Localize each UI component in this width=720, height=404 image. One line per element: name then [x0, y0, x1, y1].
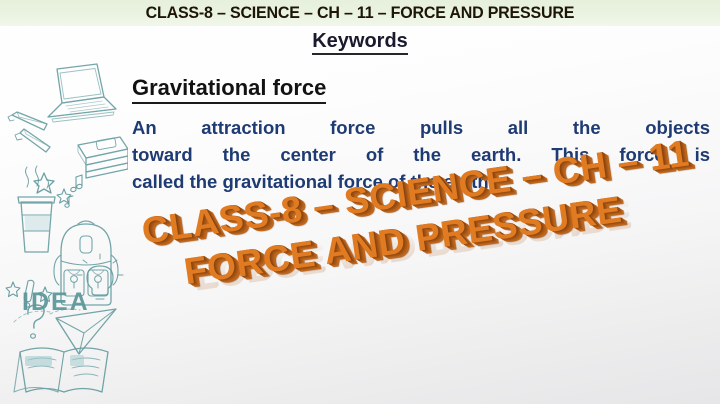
doodle-idea-label: IDEA	[22, 288, 90, 316]
definition-line-2: toward the center of the earth. This for…	[132, 141, 710, 168]
coffee-cup-doodle	[18, 166, 55, 252]
wordart-line-2: FORCE AND PRESSURE	[181, 189, 624, 294]
definition-paragraph: An attraction force pulls all the object…	[132, 114, 710, 195]
section-heading-wrap: Keywords	[0, 29, 720, 55]
wordart-reflection: FORCE AND PRESSURE	[190, 193, 633, 298]
definition-line-1: An attraction force pulls all the object…	[132, 114, 710, 141]
star-doodle	[34, 173, 71, 203]
slide-canvas: CLASS-8 – SCIENCE – CH – 11 – FORCE AND …	[0, 0, 720, 404]
doodle-illustration-strip: IDEA	[0, 55, 128, 404]
term-heading: Gravitational force	[132, 74, 326, 104]
doodle-svg: IDEA	[0, 55, 128, 404]
page-title: CLASS-8 – SCIENCE – CH – 11 – FORCE AND …	[146, 4, 575, 23]
section-heading: Keywords	[312, 29, 408, 55]
pencil-doodle	[15, 129, 50, 152]
books-stack-doodle	[78, 137, 128, 178]
slide-header-band: CLASS-8 – SCIENCE – CH – 11 – FORCE AND …	[0, 0, 720, 26]
pen-doodle	[8, 112, 47, 130]
open-book-doodle	[14, 348, 108, 392]
laptop-doodle	[48, 64, 116, 122]
definition-line-3: called the gravitational force of the ea…	[132, 168, 710, 195]
term-heading-wrap: Gravitational force	[132, 74, 326, 104]
